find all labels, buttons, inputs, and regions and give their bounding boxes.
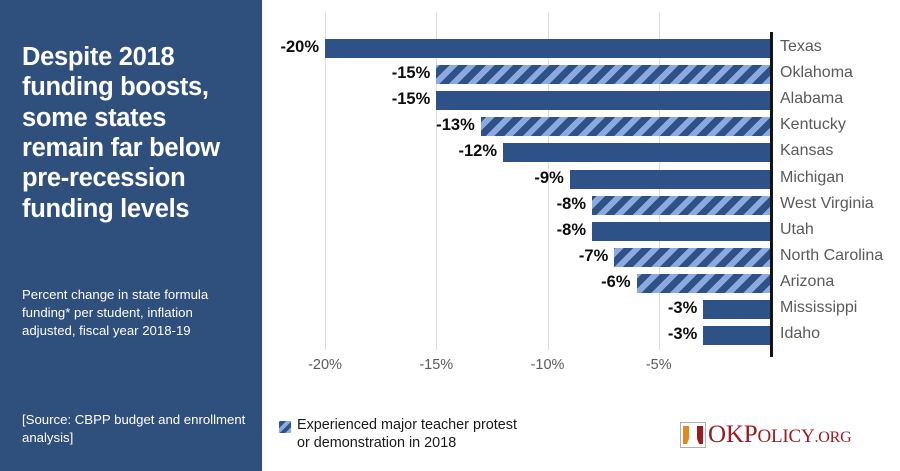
logo-dot-org: .ORG <box>815 429 852 446</box>
bar-value-label: -15% <box>372 64 430 83</box>
legend-label: Experienced major teacher protest or dem… <box>297 416 527 452</box>
bar-category-label: Mississippi <box>780 299 857 317</box>
x-axis-tick-label: -5% <box>619 357 699 373</box>
bar-row[interactable]: -6%Arizona <box>262 271 900 297</box>
bar-category-label: Alabama <box>780 90 843 108</box>
bar-value-label: -3% <box>639 299 697 318</box>
bar[interactable] <box>592 196 770 215</box>
bar[interactable] <box>614 248 770 267</box>
bar[interactable] <box>703 300 770 319</box>
bar-row[interactable]: -20%Texas <box>262 36 900 62</box>
bar-row[interactable]: -3%Mississippi <box>262 297 900 323</box>
bar-category-label: West Virginia <box>780 195 874 213</box>
logo-ok: OK <box>708 421 744 448</box>
bar-category-label: Kentucky <box>780 116 846 134</box>
logo-policy-rest: OLICY <box>757 426 814 447</box>
okpolicy-logo[interactable]: OKPOLICY.ORG <box>680 421 851 449</box>
bar[interactable] <box>637 274 771 293</box>
bar-value-label: -9% <box>506 169 564 188</box>
bar-category-label: Michigan <box>780 169 844 187</box>
chart-panel: -20%-15%-10%-5%-20%Texas-15%Oklahoma-15%… <box>262 0 900 471</box>
bar-category-label: Arizona <box>780 273 834 291</box>
logo-policy-p: P <box>744 421 758 448</box>
bar[interactable] <box>703 326 770 345</box>
bar-value-label: -15% <box>372 90 430 109</box>
infographic-root: Despite 2018 funding boosts, some states… <box>0 0 900 471</box>
bar[interactable] <box>436 65 770 84</box>
x-axis-tick-label: -20% <box>285 357 365 373</box>
bar-row[interactable]: -8%Utah <box>262 219 900 245</box>
page-title: Despite 2018 funding boosts, some states… <box>22 42 248 224</box>
hatched-square-icon <box>279 421 291 433</box>
bar-category-label: North Carolina <box>780 247 883 265</box>
bar-category-label: Idaho <box>780 325 820 343</box>
capitol-dome-icon <box>680 422 706 448</box>
bar-chart-plot: -20%-15%-10%-5%-20%Texas-15%Oklahoma-15%… <box>262 0 900 471</box>
bar-row[interactable]: -3%Idaho <box>262 323 900 349</box>
bar[interactable] <box>481 117 770 136</box>
bar-value-label: -12% <box>439 142 497 161</box>
bar-value-label: -7% <box>550 247 608 266</box>
bar-value-label: -20% <box>261 38 319 57</box>
x-axis-tick-label: -10% <box>508 357 588 373</box>
bar-value-label: -6% <box>573 273 631 292</box>
bar-value-label: -8% <box>528 221 586 240</box>
bar-category-label: Texas <box>780 38 822 56</box>
bar-value-label: -13% <box>417 116 475 135</box>
logo-wordmark: OKPOLICY.ORG <box>708 421 851 449</box>
bar-value-label: -8% <box>528 195 586 214</box>
source-note: [Source: CBPP budget and enrollment anal… <box>22 411 248 447</box>
bar-category-label: Oklahoma <box>780 64 853 82</box>
bar-row[interactable]: -15%Oklahoma <box>262 62 900 88</box>
bar[interactable] <box>592 222 770 241</box>
bar[interactable] <box>570 170 770 189</box>
page-subtitle: Percent change in state formula funding*… <box>22 286 246 340</box>
bar-row[interactable]: -15%Alabama <box>262 88 900 114</box>
chart-legend: Experienced major teacher protest or dem… <box>279 416 527 452</box>
bar-row[interactable]: -12%Kansas <box>262 140 900 166</box>
bar-row[interactable]: -8%West Virginia <box>262 193 900 219</box>
bar-category-label: Kansas <box>780 142 833 160</box>
sidebar-panel: Despite 2018 funding boosts, some states… <box>0 0 262 471</box>
bar[interactable] <box>503 143 770 162</box>
bar-row[interactable]: -9%Michigan <box>262 167 900 193</box>
bar-row[interactable]: -7%North Carolina <box>262 245 900 271</box>
bar-category-label: Utah <box>780 221 814 239</box>
bar[interactable] <box>325 39 770 58</box>
bar-row[interactable]: -13%Kentucky <box>262 114 900 140</box>
bar[interactable] <box>436 91 770 110</box>
bar-value-label: -3% <box>639 325 697 344</box>
x-axis-tick-label: -15% <box>396 357 476 373</box>
